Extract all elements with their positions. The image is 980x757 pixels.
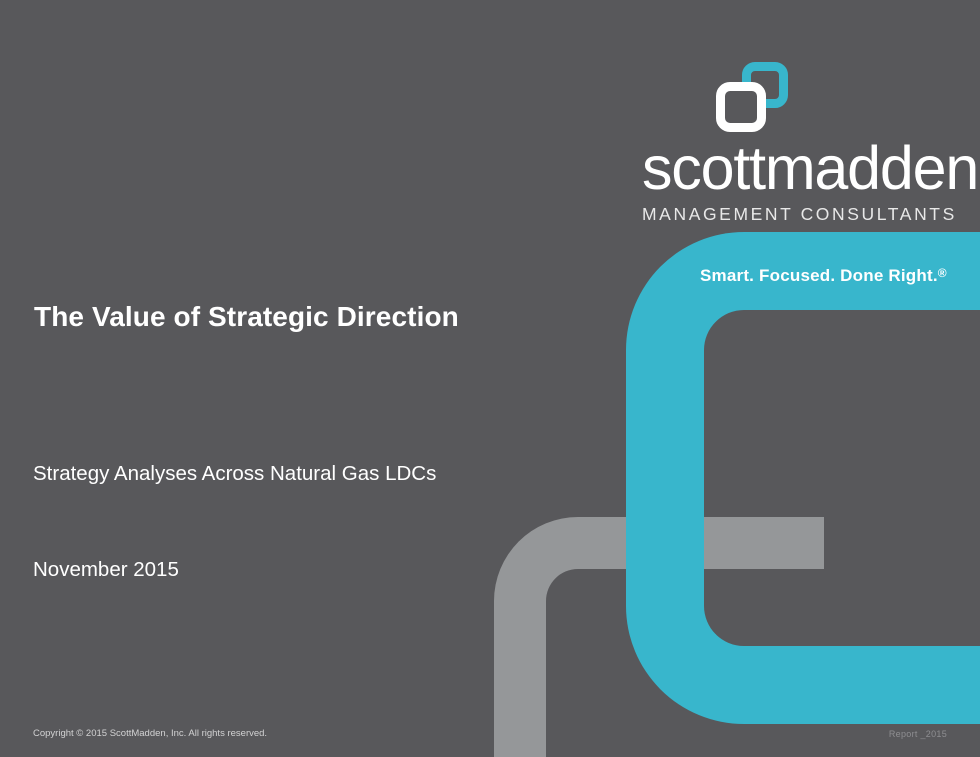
tagline: Smart. Focused. Done Right.® bbox=[700, 266, 947, 286]
tagline-trademark-icon: ® bbox=[938, 266, 947, 280]
logo-descriptor: MANAGEMENT CONSULTANTS bbox=[642, 204, 942, 225]
title-slide: scottmadden MANAGEMENT CONSULTANTS Smart… bbox=[0, 0, 980, 757]
logo: scottmadden MANAGEMENT CONSULTANTS bbox=[642, 62, 942, 225]
scottmadden-squares-logo-icon bbox=[716, 62, 790, 134]
teal-bracket-graphic bbox=[626, 232, 980, 724]
page-subtitle: Strategy Analyses Across Natural Gas LDC… bbox=[33, 462, 436, 486]
report-id: Report _2015 bbox=[889, 729, 947, 739]
page-date: November 2015 bbox=[33, 558, 179, 582]
logo-square-white bbox=[716, 82, 766, 132]
tagline-text: Smart. Focused. Done Right. bbox=[700, 266, 938, 285]
logo-wordmark: scottmadden bbox=[642, 138, 942, 198]
copyright-notice: Copyright © 2015 ScottMadden, Inc. All r… bbox=[33, 728, 267, 739]
page-title: The Value of Strategic Direction bbox=[34, 301, 459, 333]
